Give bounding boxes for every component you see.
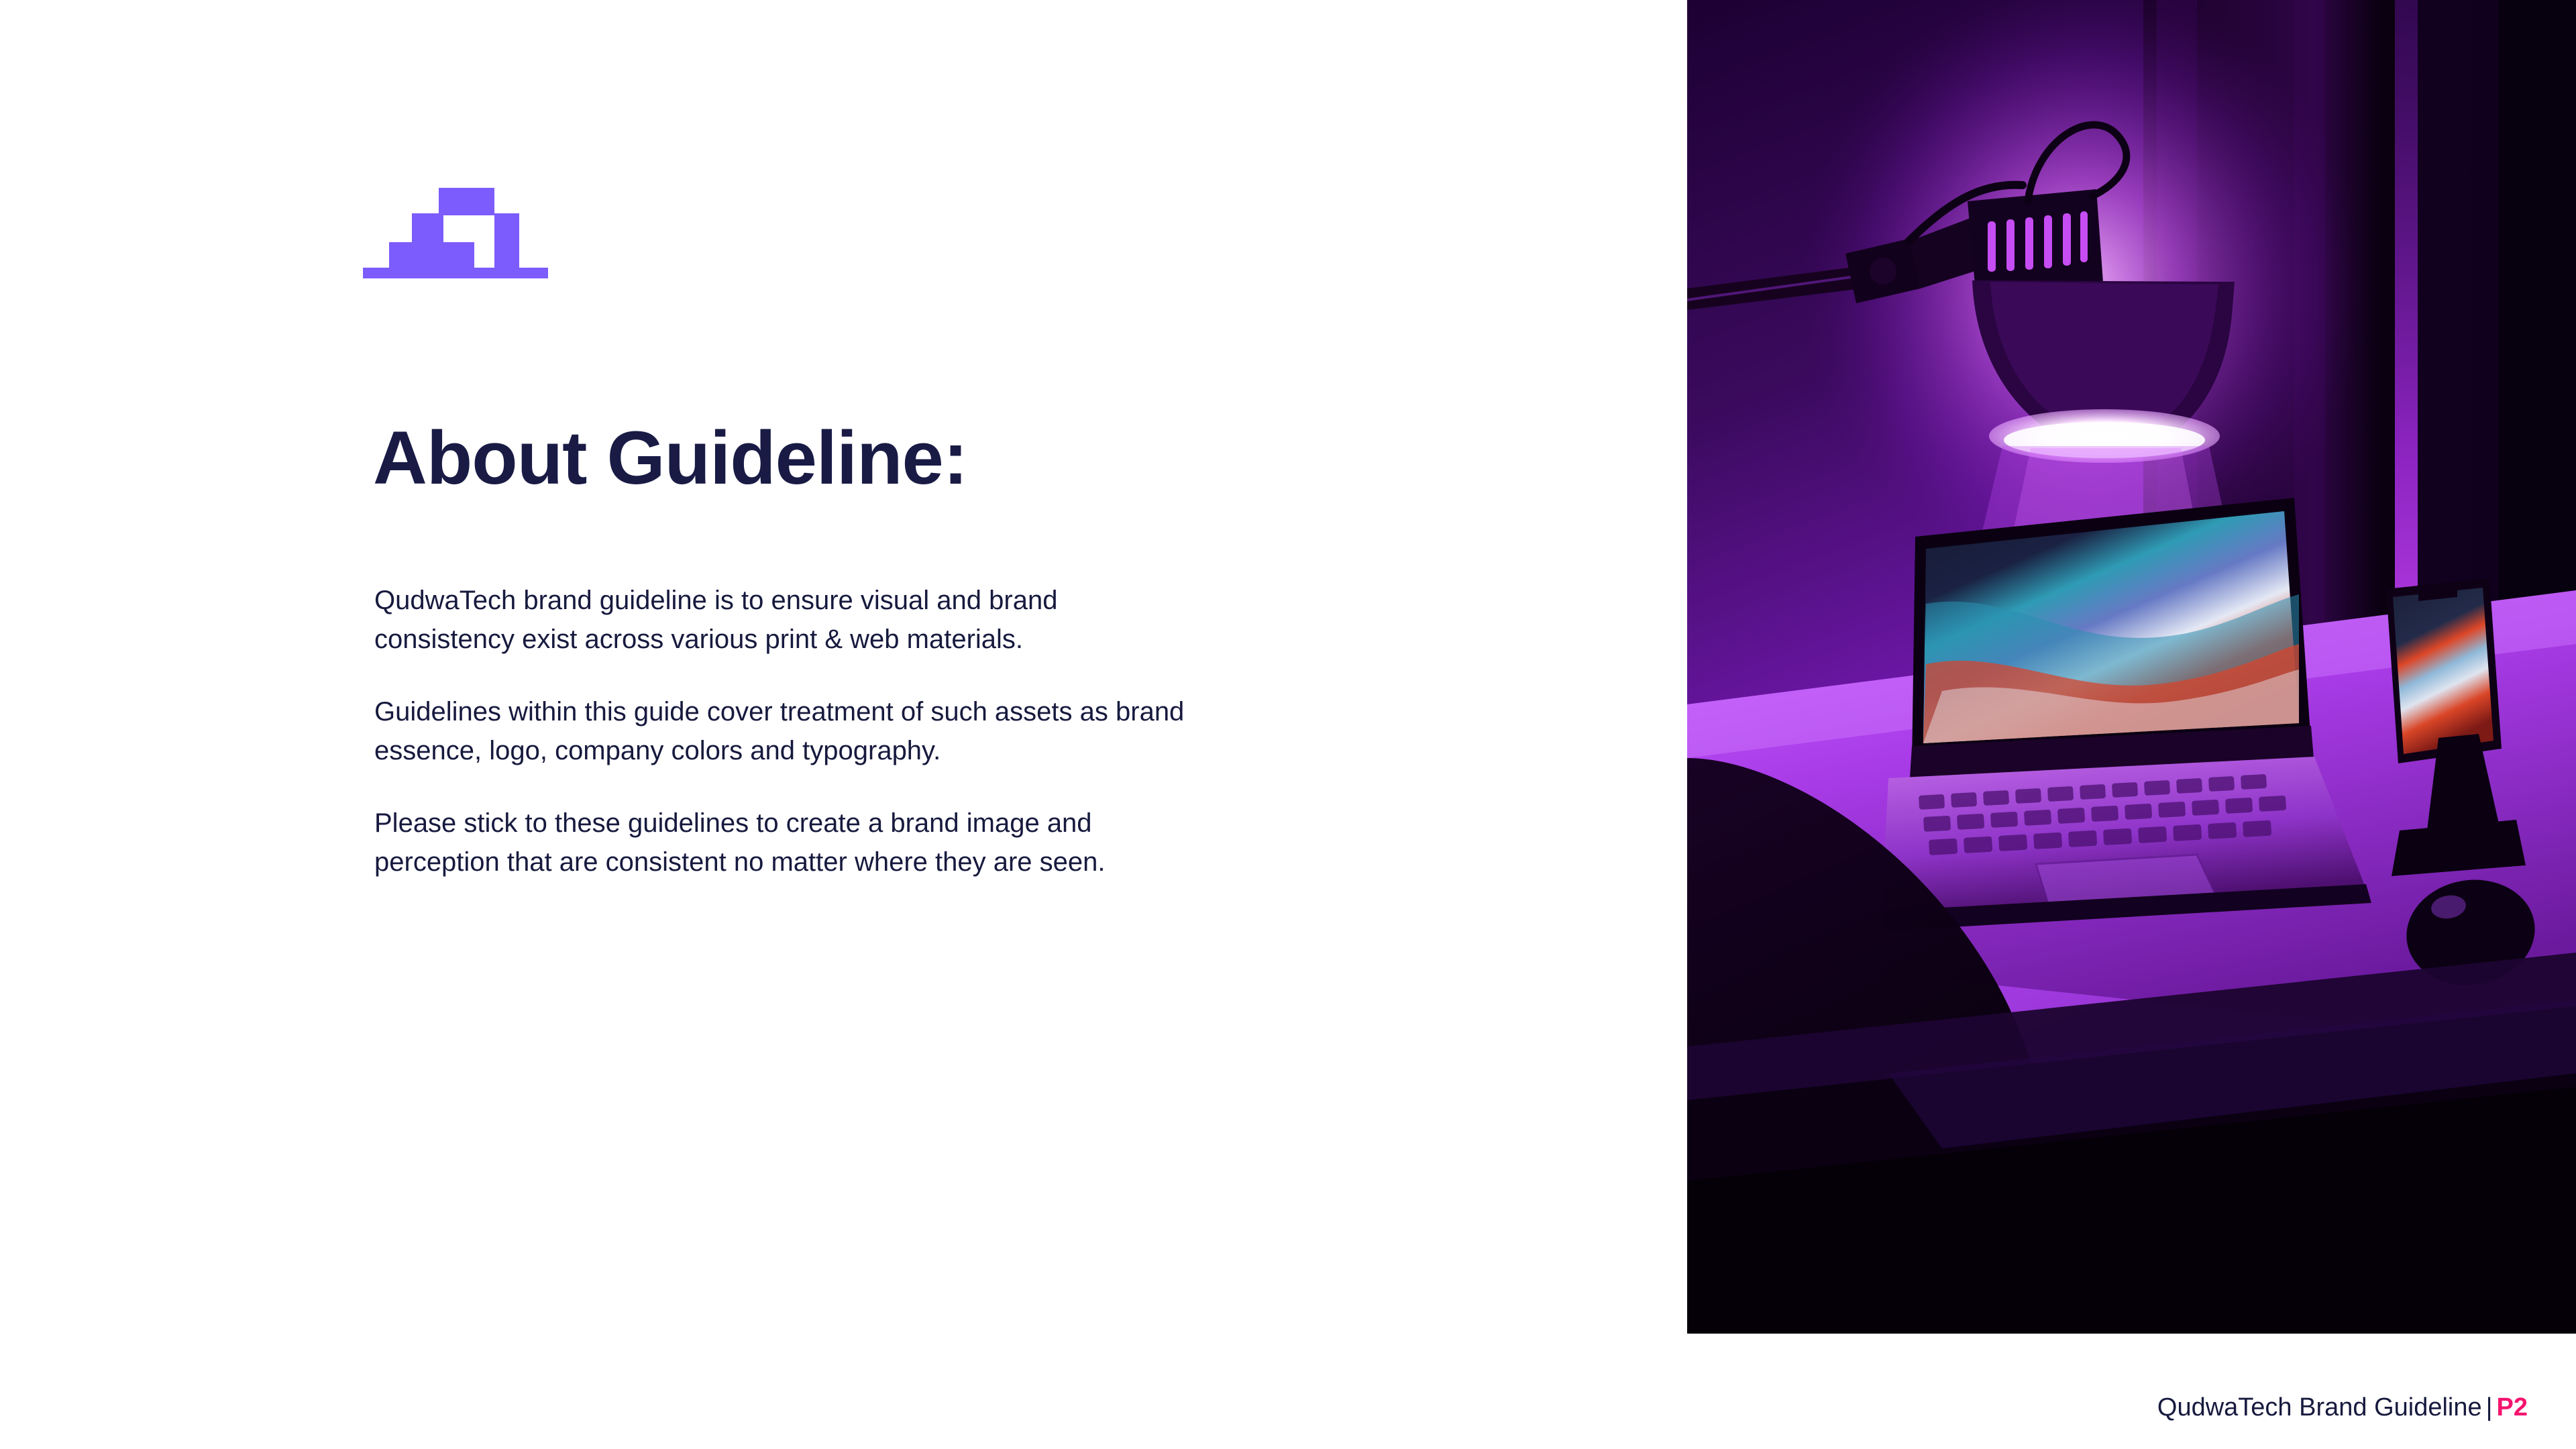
desk-scene-illustration: [1687, 0, 2576, 1334]
logo-block-right: [494, 213, 519, 270]
logo-block-top: [439, 188, 494, 215]
paragraph-2: Guidelines within this guide cover treat…: [374, 692, 1199, 771]
paragraph-1: QudwaTech brand guideline is to ensure v…: [374, 581, 1199, 659]
logo-block-lower: [389, 242, 474, 269]
content-panel: About Guideline: QudwaTech brand guideli…: [0, 0, 1687, 1449]
brand-logo: [363, 182, 551, 278]
footer-brand-text: QudwaTech Brand Guideline: [2157, 1393, 2482, 1421]
footer-page-number: P2: [2497, 1393, 2528, 1421]
footer: QudwaTech Brand Guideline|P2: [2157, 1393, 2528, 1422]
hero-photo: [1687, 0, 2576, 1334]
page-title: About Guideline:: [373, 419, 967, 498]
paragraph-3: Please stick to these guidelines to crea…: [374, 804, 1199, 882]
logo-baseline-bar: [363, 268, 548, 278]
footer-separator: |: [2486, 1393, 2493, 1421]
body-copy: QudwaTech brand guideline is to ensure v…: [374, 581, 1199, 881]
